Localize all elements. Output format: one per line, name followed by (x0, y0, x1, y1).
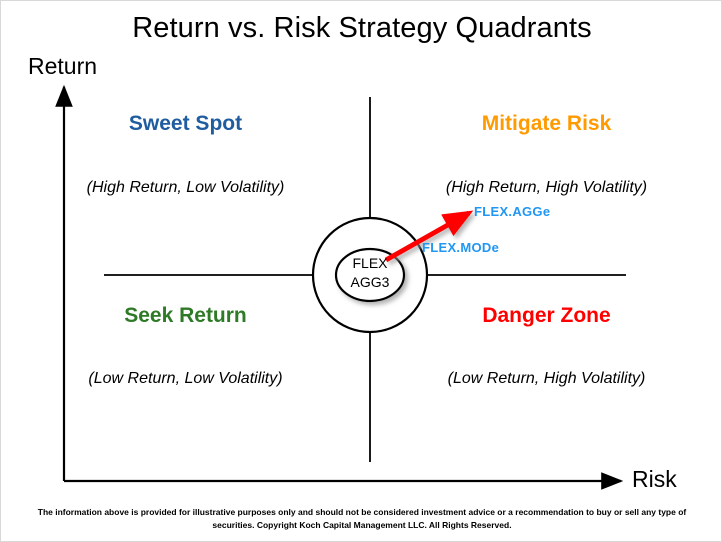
quadrant-label-sweet-spot: Sweet Spot (1, 112, 370, 136)
quadrant-subtitle-sweet-spot: (High Return, Low Volatility) (1, 179, 370, 197)
core-strategy-line-2: AGG3 (310, 274, 430, 290)
core-strategy-line-1: FLEX (310, 255, 430, 271)
quadrant-label-mitigate-risk: Mitigate Risk (370, 112, 722, 136)
quadrant-subtitle-seek-return: (Low Return, Low Volatility) (1, 370, 370, 388)
quadrant-label-danger-zone: Danger Zone (370, 304, 722, 328)
y-axis-label: Return (28, 53, 97, 80)
page-title: Return vs. Risk Strategy Quadrants (1, 12, 722, 45)
disclaimer-text: The information above is provided for il… (31, 506, 693, 532)
marker-label-flex-mode: FLEX.MODe (422, 240, 499, 255)
x-axis-label: Risk (632, 466, 677, 493)
marker-label-flex-agge: FLEX.AGGe (474, 204, 550, 219)
quadrant-label-seek-return: Seek Return (1, 304, 370, 328)
quadrant-subtitle-danger-zone: (Low Return, High Volatility) (370, 370, 722, 388)
slide-canvas: Return vs. Risk Strategy Quadrants Retur… (0, 0, 722, 542)
quadrant-chart-graphic (1, 1, 722, 542)
quadrant-subtitle-mitigate-risk: (High Return, High Volatility) (370, 179, 722, 197)
